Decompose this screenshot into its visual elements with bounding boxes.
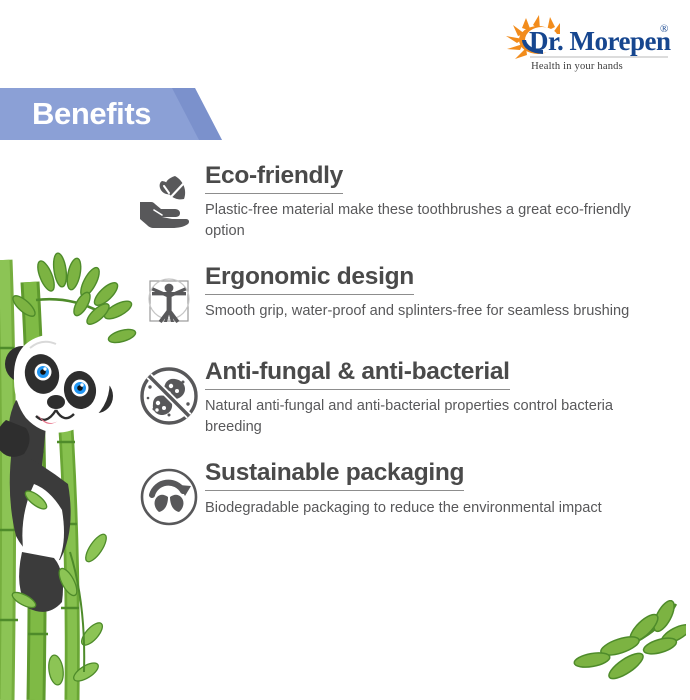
benefit-text: Eco-friendly Plastic-free material make … <box>205 160 678 242</box>
hand-holding-leaf-icon <box>133 160 205 236</box>
benefit-description: Natural anti-fungal and anti-bacterial p… <box>205 396 655 437</box>
benefit-item: Ergonomic design Smooth grip, water-proo… <box>133 261 678 337</box>
bamboo-leaf-sprig-illustration <box>568 600 686 692</box>
benefits-list: Eco-friendly Plastic-free material make … <box>133 160 678 552</box>
benefit-text: Anti-fungal & anti-bacterial Natural ant… <box>205 356 678 438</box>
dr-morepen-logo-icon: Dr. Morepen ® <box>482 14 672 66</box>
benefits-ribbon: Benefits <box>0 88 222 140</box>
benefit-title: Sustainable packaging <box>205 459 464 491</box>
brand-tagline: Health in your hands <box>484 61 670 72</box>
benefit-text: Ergonomic design Smooth grip, water-proo… <box>205 261 678 322</box>
benefit-item: Sustainable packaging Biodegradable pack… <box>133 457 678 533</box>
benefits-infographic: Dr. Morepen ® Health in your hands Benef… <box>0 0 690 700</box>
svg-text:Dr. Morepen: Dr. Morepen <box>529 26 671 56</box>
panda-on-bamboo-illustration <box>0 252 140 700</box>
benefit-title: Eco-friendly <box>205 162 343 194</box>
benefit-title: Anti-fungal & anti-bacterial <box>205 358 510 390</box>
benefit-item: Anti-fungal & anti-bacterial Natural ant… <box>133 356 678 438</box>
no-bacteria-icon <box>133 356 205 432</box>
vitruvian-man-icon <box>133 261 205 337</box>
benefit-item: Eco-friendly Plastic-free material make … <box>133 160 678 242</box>
benefit-description: Smooth grip, water-proof and splinters-f… <box>205 301 655 322</box>
brand-logo: Dr. Morepen ® Health in your hands <box>482 14 672 80</box>
recycle-leaf-icon <box>133 457 205 533</box>
benefit-description: Biodegradable packaging to reduce the en… <box>205 497 645 521</box>
page-title: Benefits <box>32 96 151 132</box>
benefit-text: Sustainable packaging Biodegradable pack… <box>205 457 678 521</box>
benefit-description: Plastic-free material make these toothbr… <box>205 200 645 241</box>
benefit-title: Ergonomic design <box>205 263 414 295</box>
svg-text:®: ® <box>660 23 668 35</box>
